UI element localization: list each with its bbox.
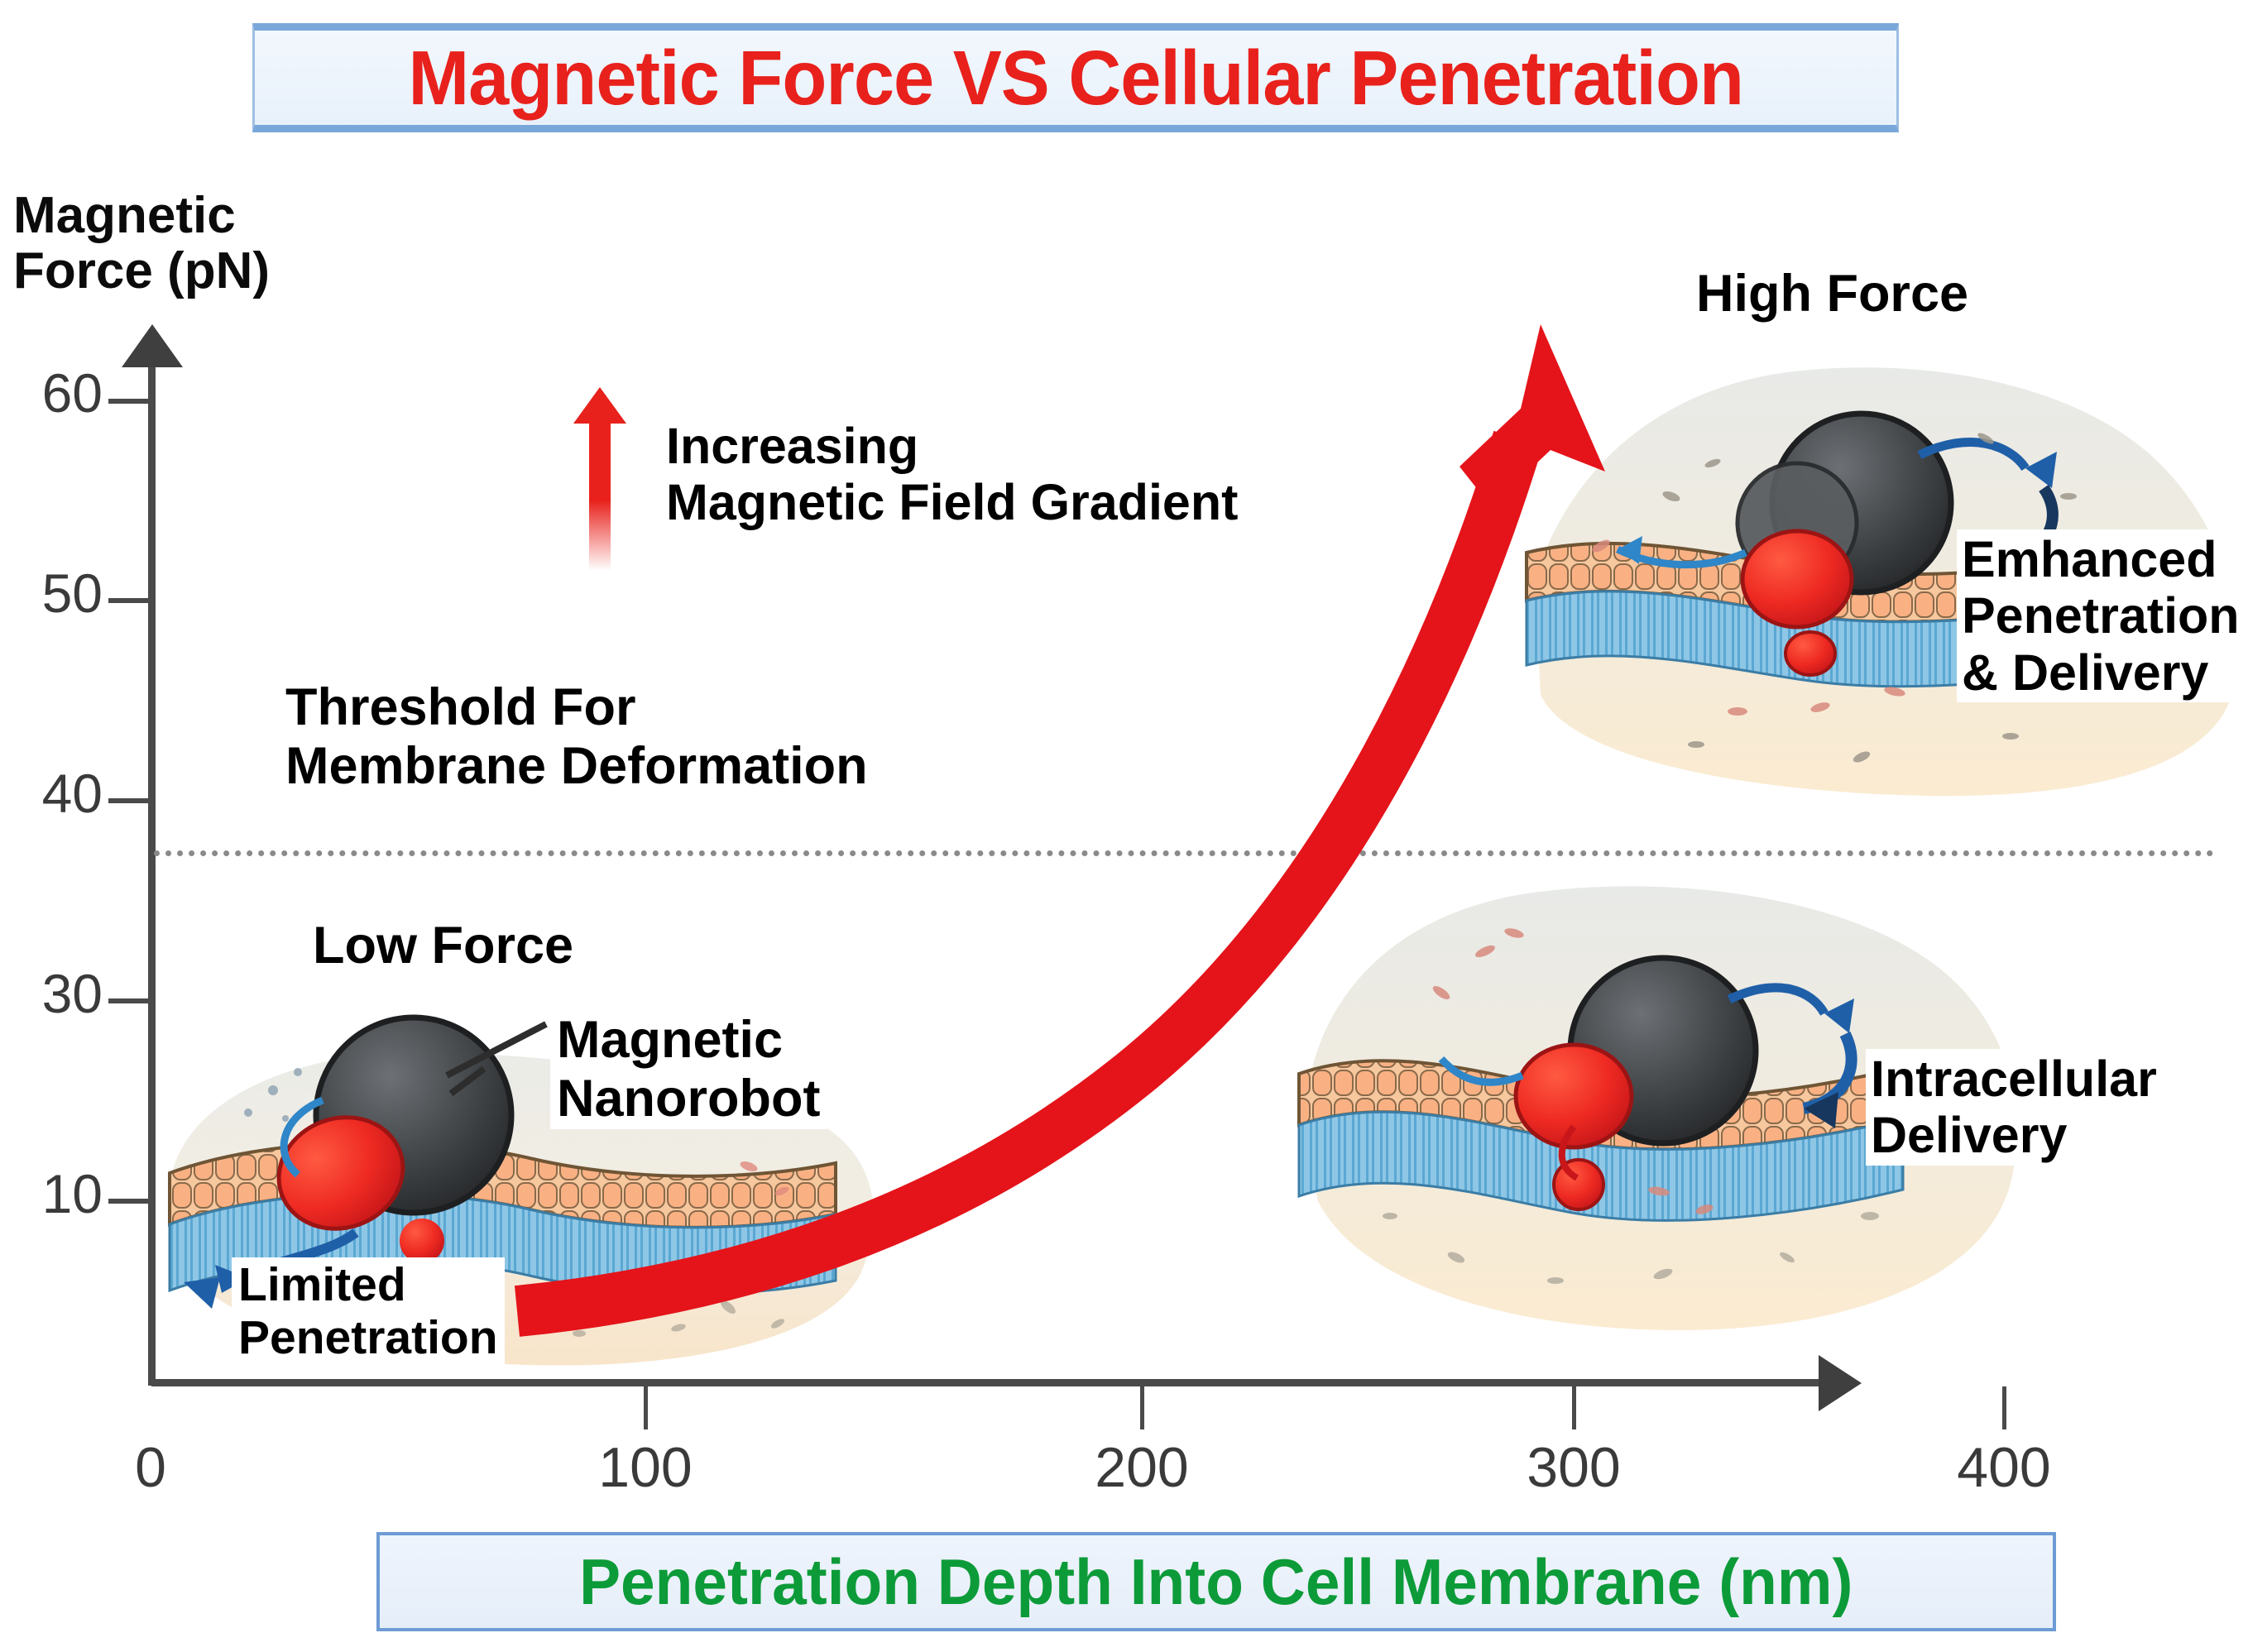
annotation-intracellular-delivery: Intracellular Delivery: [1866, 1049, 2162, 1166]
annotation-intracellular-line1: Intracellular: [1871, 1051, 2157, 1107]
annotation-intracellular-line2: Delivery: [1871, 1107, 2157, 1163]
annotation-magnetic-nanorobot: Magnetic Nanorobot: [550, 1009, 827, 1129]
annotation-threshold-line2: Membrane Deformation: [285, 737, 868, 796]
annotation-threshold: Threshold For Membrane Deformation: [285, 678, 868, 795]
illustration-layer: [0, 0, 2248, 1652]
annotation-increasing-line2: Magnetic Field Gradient: [666, 474, 1238, 530]
annotation-enhanced-line2: Penetration: [1962, 587, 2240, 644]
figure-canvas: Magnetic Force VS Cellular Penetration M…: [0, 0, 2248, 1652]
annotation-nanorobot-line1: Magnetic: [557, 1011, 820, 1070]
x-axis-label: Penetration Depth Into Cell Membrane (nm…: [579, 1544, 1853, 1620]
annotation-high-force: High Force: [1696, 265, 1968, 323]
annotation-increasing-gradient: Increasing Magnetic Field Gradient: [666, 418, 1238, 531]
increasing-gradient-arrow-shaft: [589, 414, 611, 571]
annotation-enhanced-line3: & Delivery: [1962, 644, 2240, 701]
annotation-enhanced-line1: Emhanced: [1962, 531, 2240, 587]
annotation-threshold-line1: Threshold For: [285, 678, 868, 737]
up-arrow-icon: [573, 387, 626, 424]
x-axis-label-banner: Penetration Depth Into Cell Membrane (nm…: [376, 1532, 2056, 1631]
annotation-low-force: Low Force: [313, 917, 573, 975]
annotation-increasing-line1: Increasing: [666, 418, 1238, 474]
annotation-limited-penetration: Limited Penetration: [232, 1257, 505, 1367]
annotation-nanorobot-line2: Nanorobot: [557, 1070, 820, 1128]
annotation-limited-line1: Limited: [238, 1259, 498, 1312]
annotation-limited-line2: Penetration: [238, 1312, 498, 1365]
annotation-enhanced-penetration: Emhanced Penetration & Delivery: [1957, 529, 2245, 702]
